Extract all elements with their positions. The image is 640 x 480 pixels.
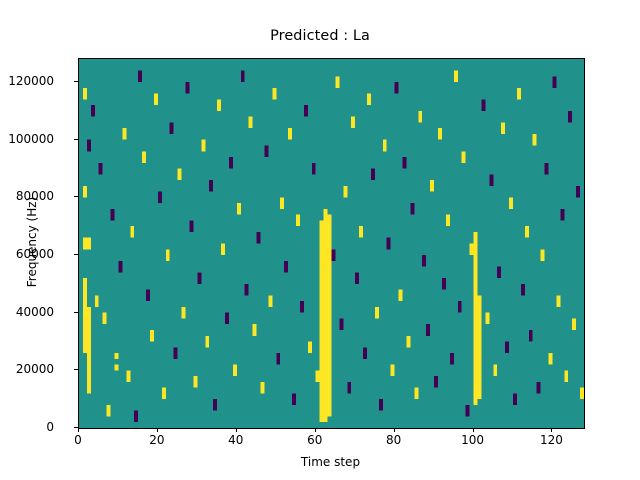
- y-tick-mark: [74, 254, 78, 255]
- x-tick-mark: [315, 428, 316, 432]
- x-tick-mark: [236, 428, 237, 432]
- y-tick-label: 100000: [0, 132, 54, 146]
- y-tick-mark: [74, 139, 78, 140]
- x-tick-mark: [551, 428, 552, 432]
- x-tick-label: 60: [285, 433, 345, 447]
- y-tick-label: 20000: [0, 362, 54, 376]
- heatmap-plot-area: [78, 58, 585, 429]
- x-tick-label: 100: [443, 433, 503, 447]
- x-tick-label: 120: [521, 433, 581, 447]
- y-tick-mark: [74, 369, 78, 370]
- x-tick-label: 80: [364, 433, 424, 447]
- x-tick-mark: [473, 428, 474, 432]
- y-tick-label: 40000: [0, 305, 54, 319]
- x-tick-label: 40: [206, 433, 266, 447]
- x-tick-mark: [78, 428, 79, 432]
- y-tick-mark: [74, 312, 78, 313]
- chart-title: Predicted : La: [0, 28, 640, 44]
- matplotlib-figure: Predicted : La Frequency (Hz) 0200004000…: [0, 0, 640, 480]
- x-axis-label: Time step: [78, 455, 583, 469]
- heatmap-image: [79, 59, 584, 428]
- x-tick-mark: [394, 428, 395, 432]
- x-tick-label: 20: [127, 433, 187, 447]
- x-tick-mark: [157, 428, 158, 432]
- y-tick-mark: [74, 196, 78, 197]
- y-tick-label: 60000: [0, 247, 54, 261]
- y-tick-label: 80000: [0, 189, 54, 203]
- y-tick-label: 0: [0, 420, 54, 434]
- y-tick-mark: [74, 81, 78, 82]
- y-tick-label: 120000: [0, 74, 54, 88]
- x-tick-label: 0: [48, 433, 108, 447]
